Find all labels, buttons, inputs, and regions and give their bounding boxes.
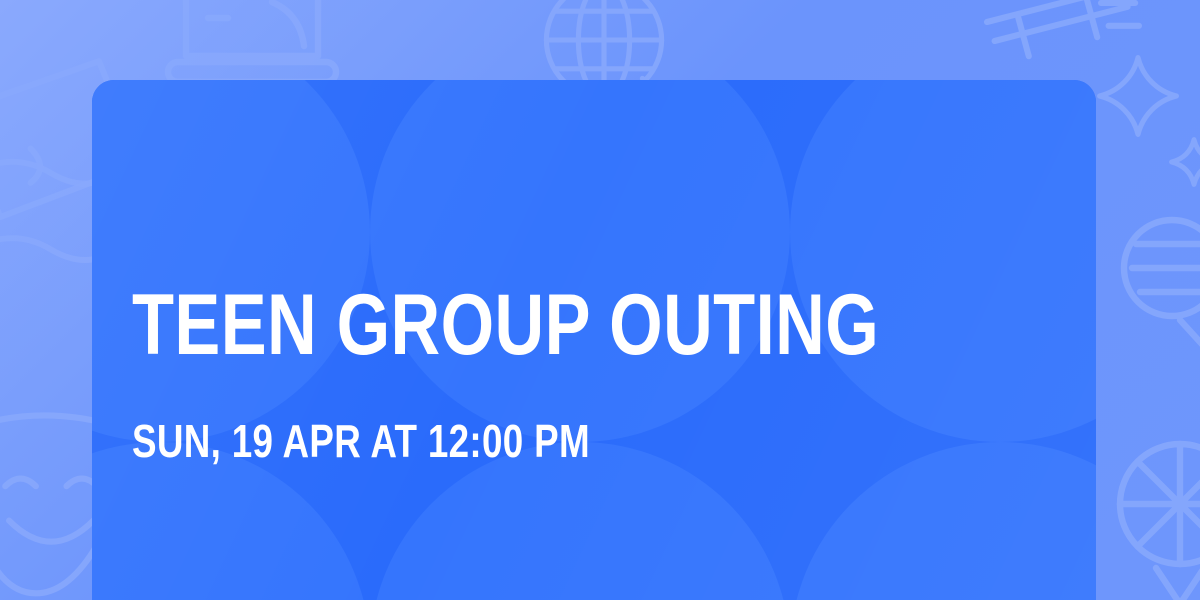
microphone-icon <box>1104 200 1200 430</box>
ferris-wheel-icon <box>1096 424 1200 600</box>
card-content: Teen Group Outing Sun, 19 Apr at 12:00 P… <box>132 80 1056 600</box>
event-title: Teen Group Outing <box>132 280 879 370</box>
event-card[interactable]: Teen Group Outing Sun, 19 Apr at 12:00 P… <box>92 80 1096 600</box>
sparkle-small-icon <box>1164 132 1200 192</box>
sparkle-icon <box>1090 48 1186 144</box>
event-poster: Teen Group Outing Sun, 19 Apr at 12:00 P… <box>0 0 1200 600</box>
bench-icon <box>968 0 1158 82</box>
event-datetime: Sun, 19 Apr at 12:00 PM <box>132 416 590 466</box>
